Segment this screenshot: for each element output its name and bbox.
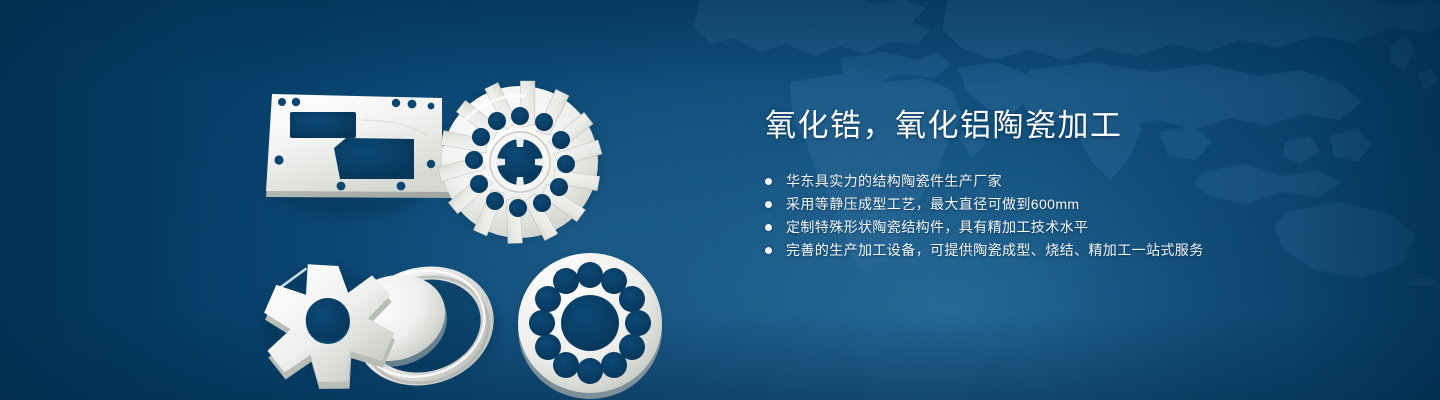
feature-text: 华东具实力的结构陶瓷件生产厂家 <box>786 170 1002 193</box>
feature-text: 完善的生产加工设备，可提供陶瓷成型、烧结、精加工一站式服务 <box>786 239 1204 262</box>
feature-text: 采用等静压成型工艺，最大直径可做到600mm <box>786 193 1079 216</box>
product-image-group <box>228 36 718 381</box>
banner-copy: 氧化锆，氧化铝陶瓷加工 华东具实力的结构陶瓷件生产厂家 采用等静压成型工艺，最大… <box>765 106 1365 262</box>
ceramic-impeller <box>437 77 603 247</box>
bullet-dot-icon <box>765 247 772 254</box>
ceramic-hole-disc <box>518 253 662 399</box>
feature-list: 华东具实力的结构陶瓷件生产厂家 采用等静压成型工艺，最大直径可做到600mm 定… <box>765 170 1365 262</box>
bullet-dot-icon <box>765 224 772 231</box>
bullet-dot-icon <box>765 201 772 208</box>
list-item: 定制特殊形状陶瓷结构件，具有精加工技术水平 <box>765 216 1365 239</box>
list-item: 采用等静压成型工艺，最大直径可做到600mm <box>765 193 1365 216</box>
ceramic-cross-part <box>256 253 403 399</box>
feature-text: 定制特殊形状陶瓷结构件，具有精加工技术水平 <box>786 216 1088 239</box>
bullet-dot-icon <box>765 178 772 185</box>
ceramic-plate <box>266 94 460 198</box>
promo-banner: 氧化锆，氧化铝陶瓷加工 华东具实力的结构陶瓷件生产厂家 采用等静压成型工艺，最大… <box>0 0 1440 400</box>
list-item: 华东具实力的结构陶瓷件生产厂家 <box>765 170 1365 193</box>
list-item: 完善的生产加工设备，可提供陶瓷成型、烧结、精加工一站式服务 <box>765 239 1365 262</box>
page-title: 氧化锆，氧化铝陶瓷加工 <box>765 106 1365 146</box>
